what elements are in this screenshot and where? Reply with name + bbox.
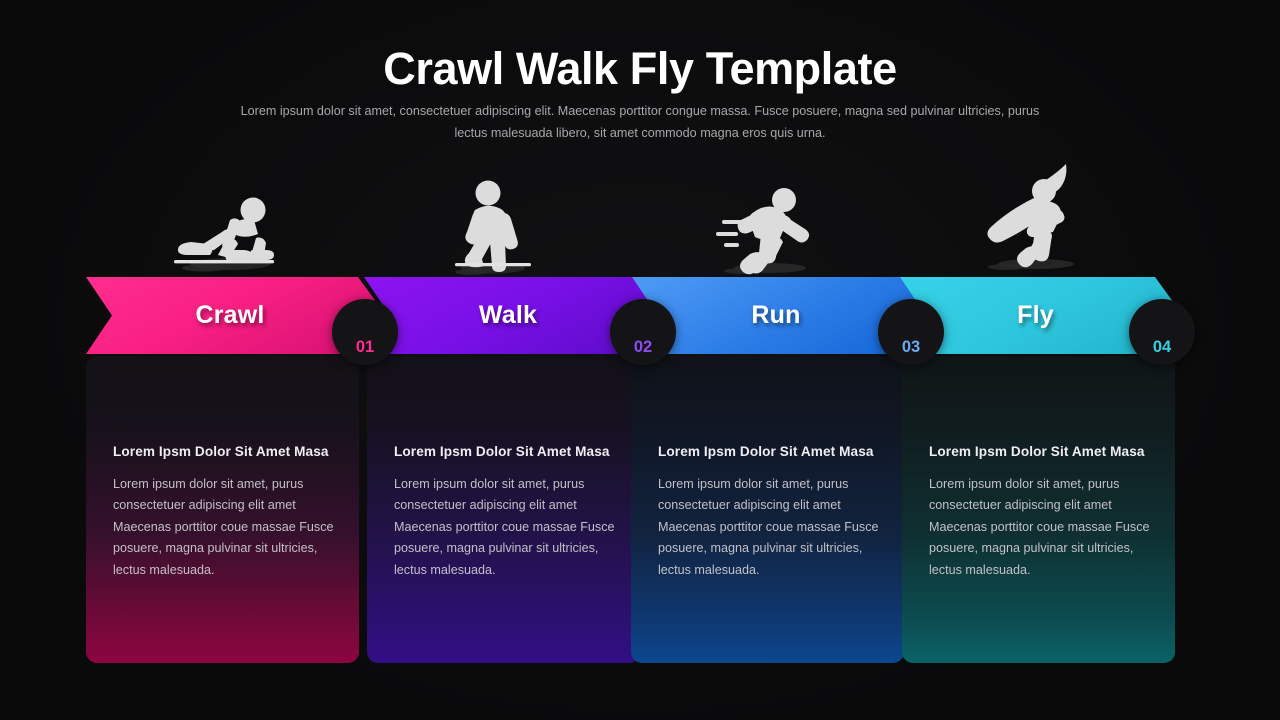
stage-label-run: Run <box>751 301 800 330</box>
card-body-fly: Lorem ipsum dolor sit amet, purus consec… <box>929 474 1155 581</box>
icon-cell-crawl <box>86 158 360 276</box>
stage-arrow-run[interactable]: Run 03 <box>632 277 932 354</box>
stage-label-crawl: Crawl <box>195 301 264 330</box>
card-body-walk: Lorem ipsum dolor sit amet, purus consec… <box>394 474 620 581</box>
card-heading-run: Lorem Ipsm Dolor Sit Amet Masa <box>658 444 884 459</box>
card-body-run: Lorem ipsum dolor sit amet, purus consec… <box>658 474 884 581</box>
stage-icon-row <box>86 158 1182 276</box>
card-heading-fly: Lorem Ipsm Dolor Sit Amet Masa <box>929 444 1155 459</box>
card-heading-crawl: Lorem Ipsm Dolor Sit Amet Masa <box>113 444 339 459</box>
flying-superhero-icon <box>972 158 1090 276</box>
stage-card-run[interactable]: Lorem Ipsm Dolor Sit Amet Masa Lorem ips… <box>631 356 904 663</box>
crawling-person-icon <box>164 176 282 276</box>
stage-number-crawl: 01 <box>332 299 398 365</box>
stage-arrow-walk[interactable]: Walk 02 <box>364 277 664 354</box>
walking-person-icon <box>441 176 541 276</box>
icon-cell-walk <box>354 158 628 276</box>
stage-card-walk[interactable]: Lorem Ipsm Dolor Sit Amet Masa Lorem ips… <box>367 356 640 663</box>
icon-cell-fly <box>894 158 1168 276</box>
stage-arrow-band: Crawl 01 Walk 02 Run 03 Fly 04 <box>86 277 1183 354</box>
stage-card-row: Lorem Ipsm Dolor Sit Amet Masa Lorem ips… <box>86 356 1182 664</box>
card-heading-walk: Lorem Ipsm Dolor Sit Amet Masa <box>394 444 620 459</box>
stage-number-walk: 02 <box>610 299 676 365</box>
stage-arrow-fly[interactable]: Fly 04 <box>900 277 1183 354</box>
stage-label-walk: Walk <box>479 301 537 330</box>
stage-card-fly[interactable]: Lorem Ipsm Dolor Sit Amet Masa Lorem ips… <box>902 356 1175 663</box>
page-subtitle: Lorem ipsum dolor sit amet, consectetuer… <box>240 101 1040 144</box>
stage-label-fly: Fly <box>1017 301 1054 330</box>
page-title: Crawl Walk Fly Template <box>0 41 1280 97</box>
running-person-icon <box>706 176 816 276</box>
stage-number-run: 03 <box>878 299 944 365</box>
card-body-crawl: Lorem ipsum dolor sit amet, purus consec… <box>113 474 339 581</box>
stage-arrow-crawl[interactable]: Crawl 01 <box>86 277 386 354</box>
stage-number-fly: 04 <box>1129 299 1195 365</box>
stage-card-crawl[interactable]: Lorem Ipsm Dolor Sit Amet Masa Lorem ips… <box>86 356 359 663</box>
slide-canvas: Crawl Walk Fly Template Lorem ipsum dolo… <box>0 0 1280 720</box>
icon-cell-run <box>624 158 898 276</box>
